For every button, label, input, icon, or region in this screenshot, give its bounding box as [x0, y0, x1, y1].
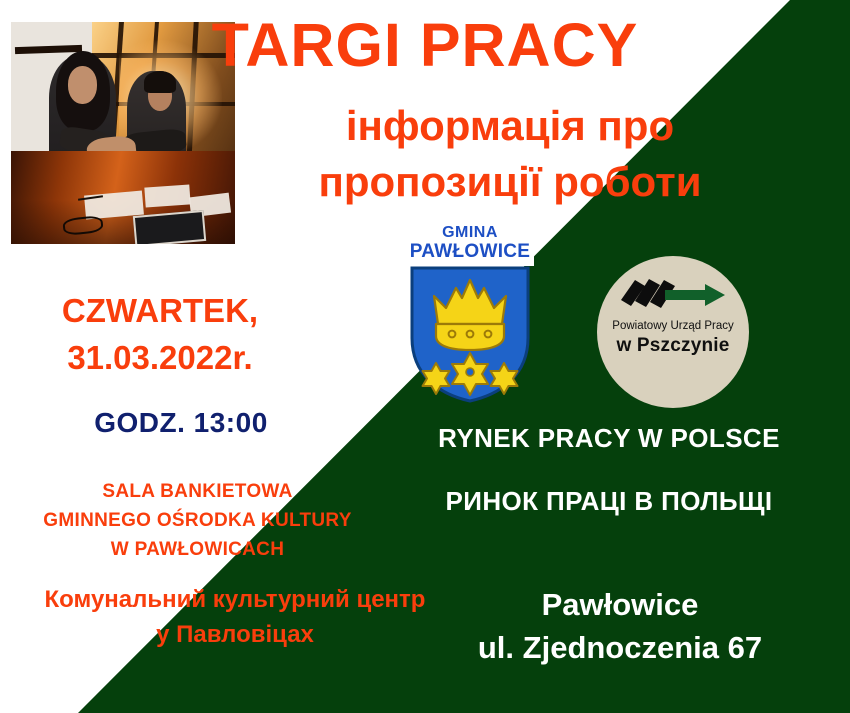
poster-canvas: TARGI PRACY інформація про пропозиції ро… — [0, 0, 850, 713]
coat-of-arms-icon — [410, 266, 530, 403]
poster-subtitle: інформація про пропозиції роботи — [175, 98, 845, 210]
address-line-2: ul. Zjednoczenia 67 — [400, 627, 840, 670]
event-time: GODZ. 13:00 — [0, 407, 362, 439]
labour-market-headings: RYNEK PRACY W POLSCE РИНОК ПРАЦІ В ПОЛЬЩ… — [378, 425, 840, 514]
venue-pl-line-2: GMINNEGO OŚRODKA KULTURY — [0, 507, 395, 536]
event-date-line-1: CZWARTEK, — [0, 288, 320, 335]
event-date: CZWARTEK, 31.03.2022r. — [0, 288, 320, 382]
gmina-logo-line-1: GMINA — [442, 225, 498, 242]
venue-pl-line-1: SALA BANKIETOWA — [0, 478, 395, 507]
labour-market-ukrainian: РИНОК ПРАЦІ В ПОЛЬЩІ — [378, 488, 840, 514]
pup-logo-line-1: Powiatowy Urząd Pracy — [597, 320, 749, 332]
venue-polish: SALA BANKIETOWA GMINNEGO OŚRODKA KULTURY… — [0, 478, 395, 565]
gmina-pawlowice-logo: GMINA PAWŁOWICE — [406, 221, 534, 403]
photo-tablet — [133, 210, 207, 244]
address-line-1: Pawłowice — [400, 584, 840, 627]
venue-pl-line-3: W PAWŁOWICACH — [0, 536, 395, 565]
event-address: Pawłowice ul. Zjednoczenia 67 — [400, 584, 840, 670]
poster-title: TARGI PRACY — [0, 14, 850, 76]
stacked-cards-arrow-icon — [619, 276, 727, 316]
subtitle-line-1: інформація про — [175, 98, 845, 154]
gmina-logo-line-2: PAWŁOWICE — [410, 242, 531, 262]
subtitle-line-2: пропозиції роботи — [175, 154, 845, 210]
event-date-line-2: 31.03.2022r. — [0, 335, 320, 382]
powiatowy-urzad-pracy-logo: Powiatowy Urząd Pracy w Pszczynie — [597, 256, 749, 408]
gmina-logo-nameplate: GMINA PAWŁOWICE — [406, 221, 534, 266]
pup-logo-line-2: w Pszczynie — [597, 335, 749, 357]
labour-market-polish: RYNEK PRACY W POLSCE — [438, 423, 780, 453]
